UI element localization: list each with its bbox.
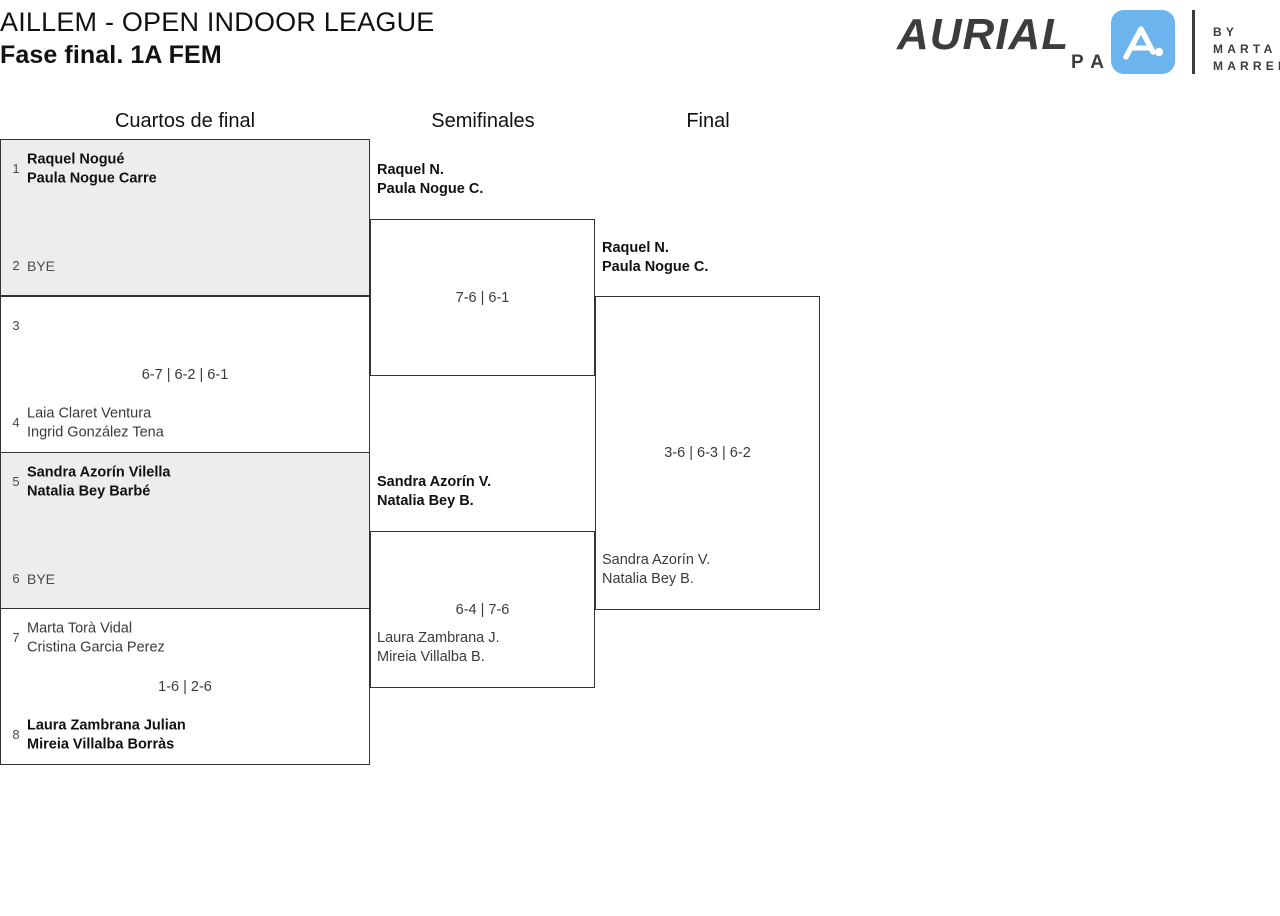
match-sf-1[interactable]: 7-6 | 6-1 <box>370 219 595 376</box>
final-top-team: Raquel N. Paula Nogue C. <box>602 239 708 276</box>
player-line-2: Paula Nogue C. <box>377 180 483 199</box>
qf-3-slot-top[interactable]: 5 Sandra Azorín Vilella Natalia Bey Barb… <box>1 462 369 502</box>
qf-1-slot-bottom[interactable]: 2 BYE <box>1 246 369 286</box>
seed-number: 7 <box>7 630 25 646</box>
sf-2-bottom-team: Laura Zambrana J. Mireia Villalba B. <box>377 629 500 666</box>
player-line-2: Mireia Villalba B. <box>377 648 500 667</box>
seed-number: 8 <box>7 727 25 743</box>
match-qf-2[interactable]: 3 6-7 | 6-2 | 6-1 4 Laia Claret Ventura … <box>0 296 370 453</box>
player-line-2: Paula Nogue C. <box>602 258 708 277</box>
seed-number: 1 <box>7 161 25 177</box>
seed-number: 2 <box>7 258 25 274</box>
qf-4-slot-top[interactable]: 7 Marta Torà Vidal Cristina Garcia Perez <box>1 618 369 658</box>
final-bottom-team: Sandra Azorín V. Natalia Bey B. <box>602 551 710 588</box>
sf-1-score: 7-6 | 6-1 <box>371 289 594 307</box>
player-line-1: Raquel N. <box>602 239 708 258</box>
qf-3-slot-bottom[interactable]: 6 BYE <box>1 559 369 599</box>
seed-number: 5 <box>7 474 25 490</box>
qf-2-score: 6-7 | 6-2 | 6-1 <box>1 366 369 384</box>
player-line-2: Ingrid González Tena <box>27 423 164 442</box>
player-line-1: Raquel N. <box>377 161 483 180</box>
player-line-2: Paula Nogue Carre <box>27 169 157 188</box>
qf-4-score: 1-6 | 2-6 <box>1 678 369 696</box>
seed-number: 4 <box>7 415 25 431</box>
match-qf-3[interactable]: 5 Sandra Azorín Vilella Natalia Bey Barb… <box>0 452 370 609</box>
team-name: Laia Claret Ventura Ingrid González Tena <box>27 405 164 442</box>
qf-2-slot-top[interactable]: 3 <box>1 306 369 346</box>
player-line-1: Raquel Nogué <box>27 151 157 170</box>
seed-number: 6 <box>7 571 25 587</box>
match-qf-4[interactable]: 7 Marta Torà Vidal Cristina Garcia Perez… <box>0 608 370 765</box>
player-line-1: Sandra Azorín V. <box>377 473 491 492</box>
qf-1-slot-top[interactable]: 1 Raquel Nogué Paula Nogue Carre <box>1 149 369 189</box>
qf-4-slot-bottom[interactable]: 8 Laura Zambrana Julian Mireia Villalba … <box>1 715 369 755</box>
team-name: BYE <box>27 570 55 589</box>
match-qf-1[interactable]: 1 Raquel Nogué Paula Nogue Carre 2 BYE <box>0 139 370 296</box>
team-name: Laura Zambrana Julian Mireia Villalba Bo… <box>27 717 186 754</box>
player-line-1: BYE <box>27 570 55 589</box>
player-line-2: Natalia Bey B. <box>602 570 710 589</box>
player-line-1: Sandra Azorín Vilella <box>27 464 170 483</box>
player-line-1: Laura Zambrana J. <box>377 629 500 648</box>
player-line-1: BYE <box>27 257 55 276</box>
player-line-1: Laura Zambrana Julian <box>27 717 186 736</box>
tournament-bracket: 1 Raquel Nogué Paula Nogue Carre 2 BYE 3… <box>0 0 1280 916</box>
team-name: Sandra Azorín Vilella Natalia Bey Barbé <box>27 464 170 501</box>
sf-2-top-team: Sandra Azorín V. Natalia Bey B. <box>377 473 491 510</box>
final-score: 3-6 | 6-3 | 6-2 <box>596 444 819 462</box>
player-line-2: Natalia Bey Barbé <box>27 482 170 501</box>
player-line-2: Natalia Bey B. <box>377 492 491 511</box>
player-line-1: Marta Torà Vidal <box>27 620 165 639</box>
sf-1-top-team: Raquel N. Paula Nogue C. <box>377 161 483 198</box>
player-line-2: Cristina Garcia Perez <box>27 638 165 657</box>
team-name: BYE <box>27 257 55 276</box>
seed-number: 3 <box>7 318 25 334</box>
qf-2-slot-bottom[interactable]: 4 Laia Claret Ventura Ingrid González Te… <box>1 403 369 443</box>
player-line-2: Mireia Villalba Borràs <box>27 735 186 754</box>
player-line-1: Laia Claret Ventura <box>27 405 164 424</box>
player-line-1: Sandra Azorín V. <box>602 551 710 570</box>
team-name: Marta Torà Vidal Cristina Garcia Perez <box>27 620 165 657</box>
sf-2-score: 6-4 | 7-6 <box>371 601 594 619</box>
team-name: Raquel Nogué Paula Nogue Carre <box>27 151 157 188</box>
